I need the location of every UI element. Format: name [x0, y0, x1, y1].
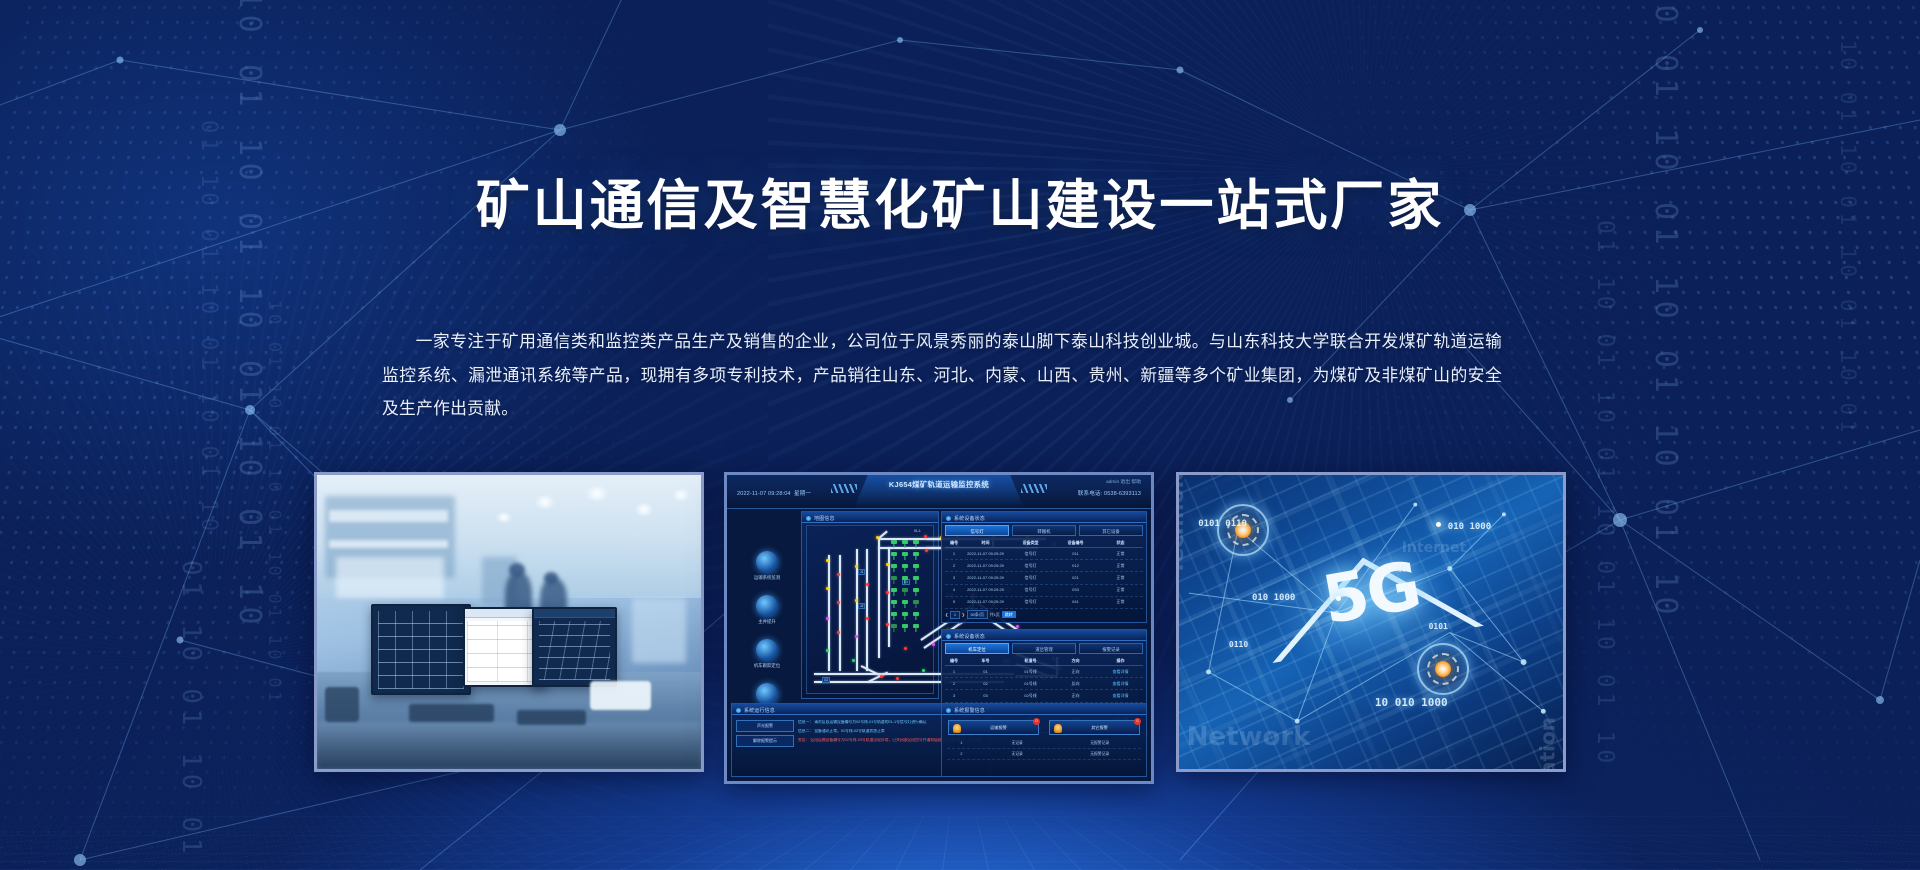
monitor-icon [756, 551, 778, 573]
alarm-panel: 系统报警信息 运输报警 0 其它报警 0 [941, 703, 1147, 777]
binary-overlay-2: 010 1000 [1252, 593, 1295, 603]
alarm-buttons: 运输报警 0 其它报警 0 [948, 720, 1140, 735]
intro-paragraph: 一家专注于矿用通信类和监控类产品生产及销售的企业，公司位于风景秀丽的泰山脚下泰山… [382, 325, 1502, 426]
alarm-count-badge: 0 [1134, 718, 1141, 725]
binary-overlay-0: 0101 0110 [1198, 519, 1247, 529]
other-alarm-button[interactable]: 其它报警 0 [1049, 720, 1140, 735]
dashboard-user-info[interactable]: admin 退出 帮助 [1106, 478, 1141, 485]
next-page-icon[interactable]: ❯ [962, 612, 965, 617]
sound-alarm-button[interactable]: 声光报警 [736, 720, 794, 732]
clear-alarm-button[interactable]: 解除报警提示 [736, 735, 794, 747]
page-title: 矿山通信及智慧化矿山建设一站式厂家 [0, 176, 1920, 235]
side-menu-item-1[interactable]: 主井提升 [735, 595, 799, 625]
binary-overlay-3: 0101 [1429, 622, 1448, 631]
go-button[interactable]: 跳转 [1002, 611, 1016, 618]
total-pages: 共1页 [990, 612, 1000, 618]
device-table: 编号 时间 设备类型 设备编号 状态 1 2022-11-07 09:25:29 [945, 539, 1143, 609]
status-tabs: 机车定位 道岔管理 报警记录 [945, 643, 1143, 654]
gear-icon [756, 683, 778, 705]
gallery-image-control-room[interactable] [314, 472, 704, 772]
watermark-network: Network [1187, 722, 1311, 752]
device-table-header: 编号 时间 设备类型 设备编号 状态 [945, 539, 1143, 548]
dashboard-side-menu: 运输系统监测 主井提升 机车跟踪定位 [735, 551, 799, 727]
binary-overlay-5: 10 010 1000 [1375, 696, 1448, 709]
binary-overlay-1: 010 1000 [1448, 522, 1491, 532]
hud-ring-center [1417, 643, 1469, 695]
device-tabs: 信号灯 转辙机 其它设备 [945, 525, 1143, 536]
binary-overlay-4: 0110 [1229, 640, 1248, 649]
side-menu-item-0[interactable]: 运输系统监测 [735, 551, 799, 581]
side-menu-item-2[interactable]: 机车跟踪定位 [735, 639, 799, 669]
log-buttons: 声光报警 解除报警提示 [736, 720, 794, 750]
banner-stage: 10 01 10 01 10 01 10 01 10 01 10 01 10 0… [0, 0, 1920, 870]
banner-content: 矿山通信及智慧化矿山建设一站式厂家 一家专注于矿用通信类和监控类产品生产及销售的… [0, 0, 1920, 870]
transport-alarm-button[interactable]: 运输报警 0 [948, 720, 1039, 735]
mine-rail-map[interactable]: 01-1 02-1 03-1 J1 J2 K1 K2 K3 K4 G1 G2 [806, 525, 934, 694]
control-room-photo [317, 475, 701, 769]
status-tab-2[interactable]: 报警记录 [1079, 643, 1143, 654]
rail-monitoring-screenshot: KJ654煤矿轨道运输监控系统 admin 退出 帮助 2022-11-07 0… [727, 475, 1151, 781]
table-row[interactable]: 3 2022-11-07 09:25:29 信号灯 021 正常 [945, 572, 1143, 584]
table-row[interactable]: 1 01 01号线 正向 查看详情 [945, 666, 1143, 678]
5g-technology-photo: Technology Network Innovation Internet 5… [1179, 475, 1563, 769]
dashboard-datetime: 2022-11-07 09:28:04 星期一 [737, 489, 811, 497]
bell-icon [1054, 724, 1062, 733]
dashboard-contact: 联系电话: 0538-6393113 [1078, 489, 1141, 497]
page-number[interactable]: 1 [950, 611, 959, 619]
dashboard-body: 运输系统监测 主井提升 机车跟踪定位 [731, 511, 1147, 777]
alarm-count-badge: 0 [1033, 718, 1040, 725]
device-pager: ❮ 1 ❯ 50条/页 共1页 跳转 [945, 610, 1143, 619]
status-table-header: 编号 车号 轨道号 方向 操作 [945, 657, 1143, 666]
map-panel-title: 地图信息 [802, 512, 938, 523]
bell-icon [953, 724, 961, 733]
image-gallery: KJ654煤矿轨道运输监控系统 admin 退出 帮助 2022-11-07 0… [0, 472, 1920, 784]
locomotive-icon [756, 639, 778, 661]
device-tab-2[interactable]: 其它设备 [1079, 525, 1143, 536]
table-row[interactable]: 3 03 02号线 正向 查看详情 [945, 690, 1143, 702]
prev-page-icon[interactable]: ❮ [945, 612, 948, 617]
table-row[interactable]: 4 2022-11-07 09:25:29 信号灯 033 正常 [945, 585, 1143, 597]
table-row[interactable]: 1 2022-11-07 09:25:29 信号灯 011 正常 [945, 548, 1143, 560]
map-panel: 地图信息 [801, 511, 939, 699]
page-size-select[interactable]: 50条/页 [967, 610, 988, 619]
status-panel-title: 系统设备状态 [942, 630, 1146, 641]
device-tab-1[interactable]: 转辙机 [1012, 525, 1076, 536]
table-row[interactable]: 2 02 01号线 反向 查看详情 [945, 678, 1143, 690]
device-tab-0[interactable]: 信号灯 [945, 525, 1009, 536]
device-status-panel: 系统设备状态 信号灯 转辙机 其它设备 编号 时间 设备类型 [941, 511, 1147, 623]
hoist-icon [756, 595, 778, 617]
table-row[interactable]: 1 无记录 无报警记录 [947, 738, 1141, 749]
watermark-innovation: Innovation [1535, 717, 1559, 769]
table-row[interactable]: 2 无记录 无报警记录 [947, 749, 1141, 760]
alarm-table: 1 无记录 无报警记录 2 无记录 无报警记录 [947, 738, 1141, 760]
device-panel-title: 系统设备状态 [942, 512, 1146, 523]
table-row[interactable]: 2 2022-11-07 09:25:29 信号灯 012 正常 [945, 560, 1143, 572]
gallery-image-rail-monitoring[interactable]: KJ654煤矿轨道运输监控系统 admin 退出 帮助 2022-11-07 0… [724, 472, 1154, 784]
alarm-panel-title: 系统报警信息 [942, 704, 1146, 715]
gallery-image-5g[interactable]: Technology Network Innovation Internet 5… [1176, 472, 1566, 772]
binary-overlay-6: 100 [1398, 566, 1411, 574]
watermark-technology: Technology [1179, 475, 1189, 575]
status-tab-0[interactable]: 机车定位 [945, 643, 1009, 654]
status-tab-1[interactable]: 道岔管理 [1012, 643, 1076, 654]
table-row[interactable]: 5 2022-11-07 09:25:29 信号灯 041 正常 [945, 597, 1143, 609]
